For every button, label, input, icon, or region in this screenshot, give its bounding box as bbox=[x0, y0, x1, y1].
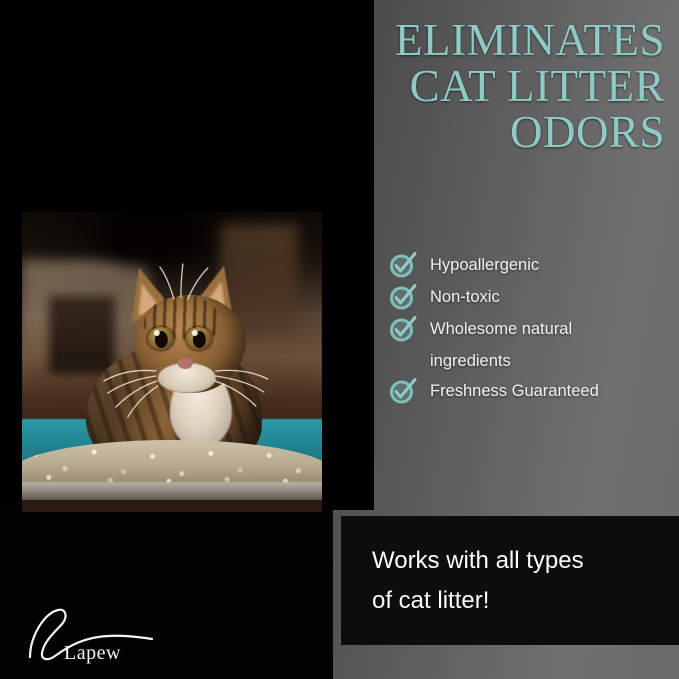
check-circle-icon bbox=[388, 314, 418, 344]
headline-line-3: ODORS bbox=[285, 110, 665, 156]
benefit-item-freshness-guaranteed: Freshness Guaranteed bbox=[388, 376, 673, 406]
litter-box-front-shadow bbox=[22, 500, 322, 512]
benefit-label-continuation: ingredients bbox=[430, 346, 673, 376]
callout-box: Works with all types of cat litter! bbox=[341, 516, 679, 645]
headline-line-2: CAT LITTER bbox=[285, 64, 665, 110]
benefit-item-non-toxic: Non-toxic bbox=[388, 282, 673, 312]
brand-logo: Lapew bbox=[22, 603, 172, 665]
headline: ELIMINATES CAT LITTER ODORS bbox=[285, 18, 665, 156]
callout-line-1: Works with all types bbox=[372, 541, 679, 581]
callout-line-2: of cat litter! bbox=[372, 581, 679, 621]
headline-line-1: ELIMINATES bbox=[285, 18, 665, 64]
benefit-item-wholesome-natural-ingredients: Wholesome natural bbox=[388, 314, 673, 344]
benefit-label: Non-toxic bbox=[430, 282, 500, 312]
benefit-item-hypoallergenic: Hypoallergenic bbox=[388, 250, 673, 280]
benefit-label: Wholesome natural bbox=[430, 314, 572, 344]
benefit-label: Hypoallergenic bbox=[430, 250, 539, 280]
check-circle-icon bbox=[388, 376, 418, 406]
brand-wordmark: Lapew bbox=[64, 642, 121, 665]
cat-photo bbox=[22, 212, 322, 512]
check-circle-icon bbox=[388, 250, 418, 280]
cat-photo-scene bbox=[22, 212, 322, 512]
benefit-label: Freshness Guaranteed bbox=[430, 376, 599, 406]
check-circle-icon bbox=[388, 282, 418, 312]
cat-litter-pellets bbox=[22, 440, 322, 488]
benefits-list: Hypoallergenic Non-toxic Wholesome n bbox=[388, 250, 673, 408]
product-ad-canvas: ELIMINATES CAT LITTER ODORS Hypoallergen… bbox=[0, 0, 679, 679]
